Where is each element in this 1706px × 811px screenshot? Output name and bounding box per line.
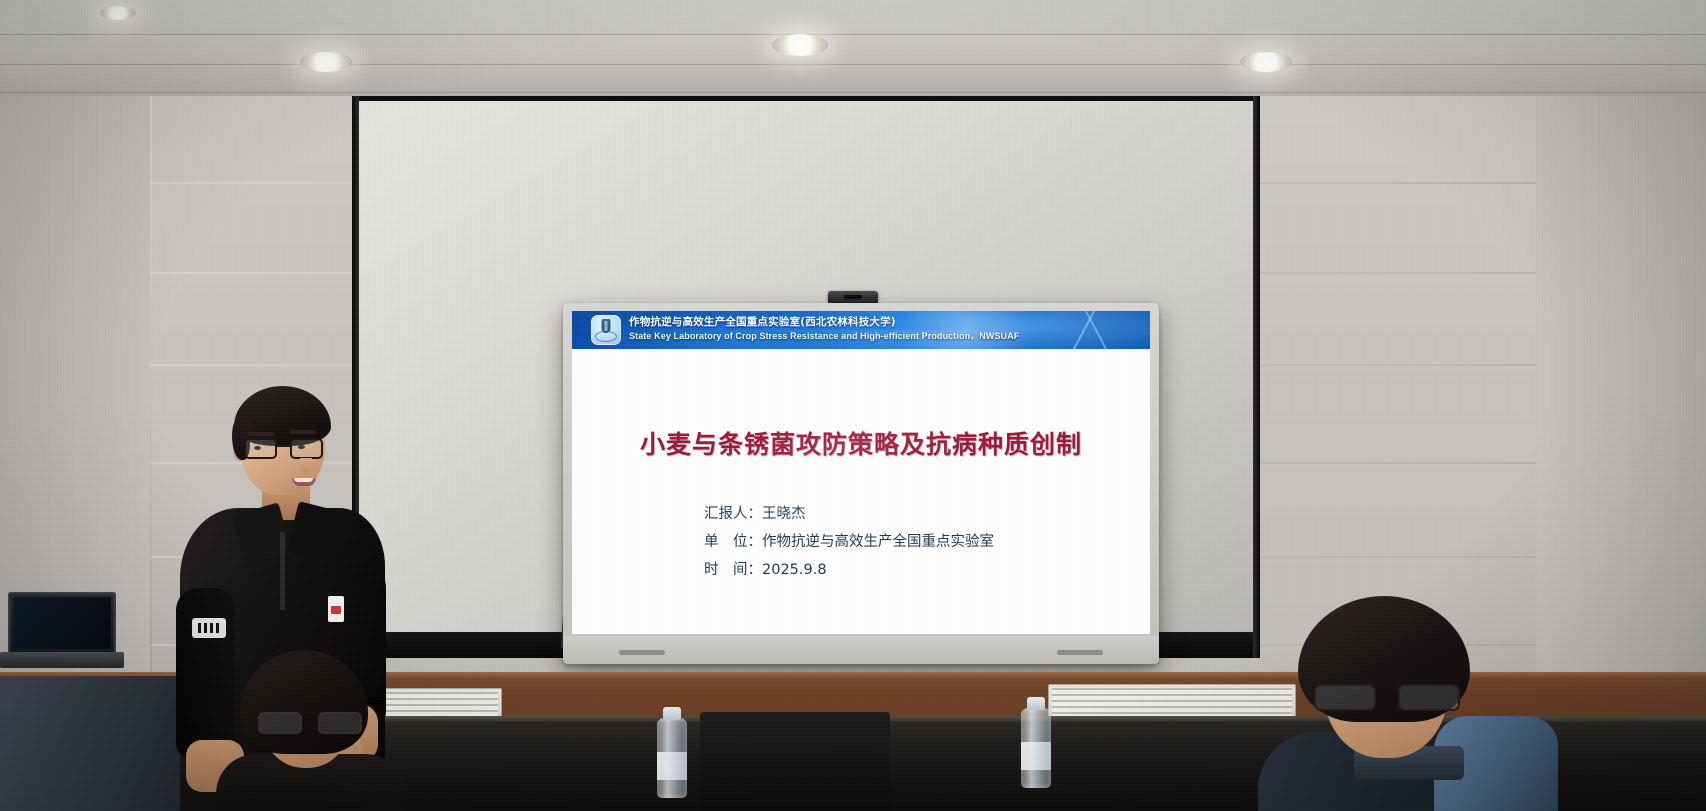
banner-title-en: State Key Laboratory of Crop Stress Resi… (629, 329, 1019, 342)
camera-lens-icon (844, 295, 862, 299)
meta-label-unit: 单 位： (704, 528, 762, 556)
banner-title-cn: 作物抗逆与高效生产全国重点实验室(西北农林科技大学) (629, 314, 896, 329)
conference-room-photo: 作物抗逆与高效生产全国重点实验室(西北农林科技大学) State Key Lab… (0, 0, 1706, 811)
water-bottle (657, 718, 687, 798)
ceiling-downlight (100, 6, 136, 20)
laptop-base (0, 652, 124, 668)
ceiling-downlight (1240, 52, 1292, 72)
meta-value-date: 2025.9.8 (762, 562, 827, 578)
meta-row-date: 时 间：2025.9.8 (704, 556, 994, 584)
seated-attendee-right (1258, 596, 1558, 811)
presentation-slide: 作物抗逆与高效生产全国重点实验室(西北农林科技大学) State Key Lab… (572, 311, 1150, 634)
ceiling-downlight (772, 34, 828, 56)
slide-meta-block: 汇报人：王晓杰 单 位：作物抗逆与高效生产全国重点实验室 时 间：2025.9.… (704, 500, 994, 584)
meta-value-unit: 作物抗逆与高效生产全国重点实验室 (762, 534, 994, 550)
meta-value-presenter: 王晓杰 (762, 506, 806, 522)
eyeglasses-icon (244, 438, 326, 459)
meta-row-presenter: 汇报人：王晓杰 (704, 500, 994, 528)
laptop-screen (8, 592, 116, 654)
meta-label-date: 时 间： (704, 556, 762, 584)
ceiling (0, 0, 1706, 96)
meta-row-unit: 单 位：作物抗逆与高效生产全国重点实验室 (704, 528, 994, 556)
ceiling-downlight (300, 52, 352, 72)
panel-display-area: 作物抗逆与高效生产全国重点实验室(西北农林科技大学) State Key Lab… (572, 311, 1150, 634)
table-equipment-box (700, 712, 890, 811)
chest-badge (328, 596, 344, 622)
eyeglasses-icon (258, 712, 362, 734)
panel-bezel-bottom (563, 636, 1159, 664)
laptop[interactable] (0, 592, 120, 684)
screen-edge-right (1253, 96, 1260, 658)
water-bottle (1021, 708, 1051, 788)
interactive-flat-panel[interactable]: 作物抗逆与高效生产全国重点实验室(西北农林科技大学) State Key Lab… (563, 303, 1159, 664)
eyeglasses-icon (1314, 684, 1460, 712)
sleeve-logo (192, 618, 226, 638)
wall-column-right (1536, 96, 1706, 716)
seated-attendee-left (216, 650, 406, 811)
slide-title: 小麦与条锈菌攻防策略及抗病种质创制 (572, 425, 1150, 461)
slide-banner: 作物抗逆与高效生产全国重点实验室(西北农林科技大学) State Key Lab… (572, 311, 1150, 349)
laboratory-emblem-icon (591, 315, 621, 345)
meta-label-presenter: 汇报人： (704, 500, 762, 528)
